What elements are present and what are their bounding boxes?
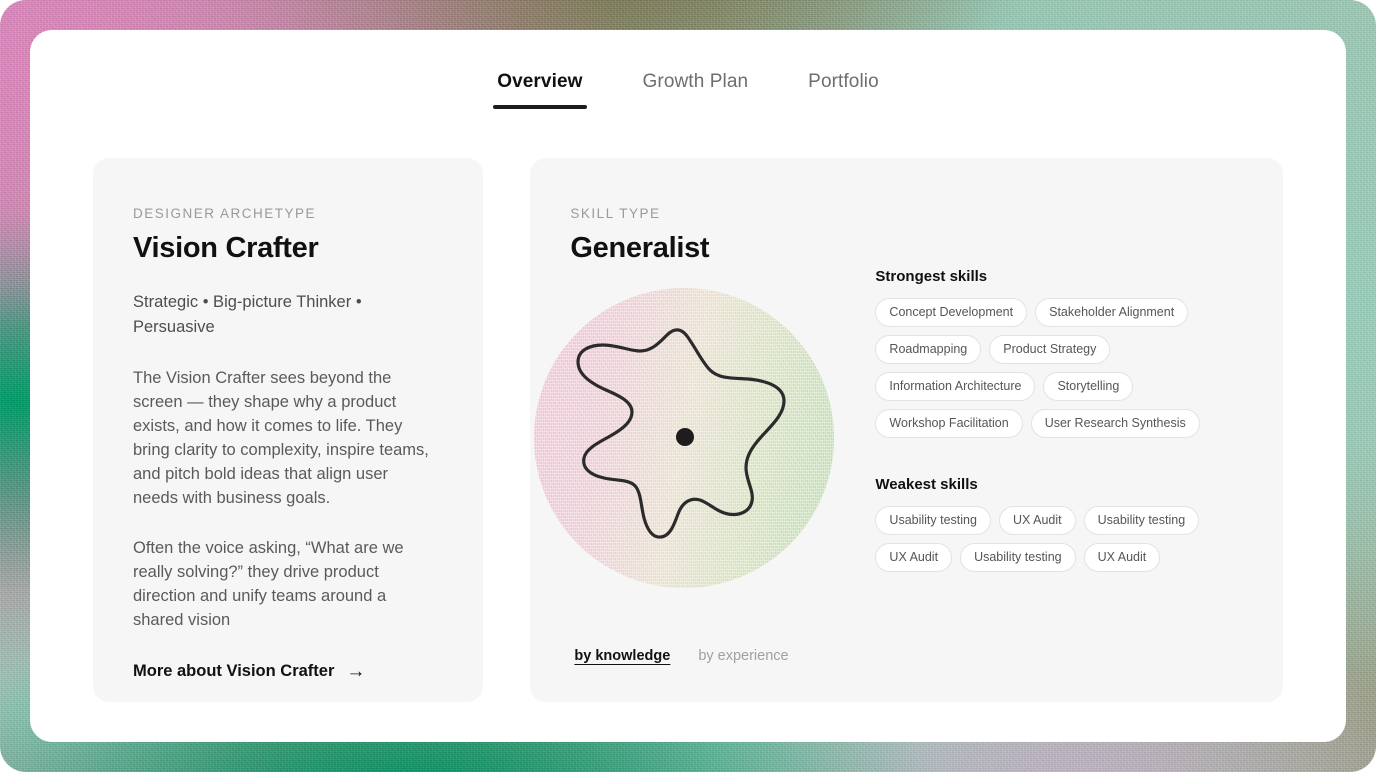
skill-pill[interactable]: Storytelling — [1043, 372, 1133, 401]
skill-pill[interactable]: Usability testing — [1084, 506, 1200, 535]
skill-pill[interactable]: Information Architecture — [875, 372, 1035, 401]
skill-blob-visual — [534, 288, 834, 588]
skill-type-eyebrow: SKILL TYPE — [570, 206, 1243, 221]
skill-pill[interactable]: UX Audit — [875, 543, 952, 572]
skill-pill[interactable]: Usability testing — [875, 506, 991, 535]
mode-by-experience[interactable]: by experience — [698, 648, 788, 664]
blob-mode-toggle: by knowledge by experience — [574, 648, 788, 664]
app-panel: Overview Growth Plan Portfolio DESIGNER … — [30, 30, 1346, 742]
skill-type-title: Generalist — [570, 232, 1243, 265]
archetype-paragraph-1: The Vision Crafter sees beyond the scree… — [133, 366, 433, 510]
gradient-backdrop: Overview Growth Plan Portfolio DESIGNER … — [0, 0, 1376, 772]
archetype-eyebrow: DESIGNER ARCHETYPE — [133, 206, 443, 221]
skill-pill[interactable]: Usability testing — [960, 543, 1076, 572]
skill-type-card: SKILL TYPE Generalist Strongest skills — [530, 158, 1283, 702]
tab-portfolio[interactable]: Portfolio — [804, 71, 883, 109]
tab-bar: Overview Growth Plan Portfolio — [30, 30, 1346, 109]
tab-growth-plan[interactable]: Growth Plan — [639, 71, 753, 109]
skill-pill[interactable]: Stakeholder Alignment — [1035, 298, 1188, 327]
archetype-traits: Strategic • Big-picture Thinker • Persua… — [133, 290, 433, 340]
archetype-paragraph-2: Often the voice asking, “What are we rea… — [133, 536, 433, 632]
more-about-archetype-link[interactable]: More about Vision Crafter → — [133, 662, 365, 681]
strongest-skills-heading: Strongest skills — [875, 268, 1205, 285]
tab-overview[interactable]: Overview — [493, 71, 586, 109]
weakest-skills-list: Usability testing UX Audit Usability tes… — [875, 506, 1205, 572]
skill-pill[interactable]: Roadmapping — [875, 335, 981, 364]
archetype-title: Vision Crafter — [133, 232, 443, 265]
skill-pill[interactable]: User Research Synthesis — [1031, 409, 1200, 438]
skill-pill[interactable]: UX Audit — [1084, 543, 1161, 572]
card-row: DESIGNER ARCHETYPE Vision Crafter Strate… — [93, 158, 1283, 702]
skill-pill[interactable]: Workshop Facilitation — [875, 409, 1022, 438]
strongest-skills-list: Concept Development Stakeholder Alignmen… — [875, 298, 1205, 438]
skills-panel: Strongest skills Concept Development Sta… — [875, 268, 1205, 572]
skill-pill[interactable]: Product Strategy — [989, 335, 1110, 364]
blob-center-dot — [676, 428, 694, 446]
arrow-right-icon: → — [346, 662, 365, 681]
skill-pill[interactable]: UX Audit — [999, 506, 1076, 535]
more-about-archetype-label: More about Vision Crafter — [133, 662, 334, 681]
blob-shape-svg — [534, 288, 834, 588]
weakest-skills-heading: Weakest skills — [875, 476, 1205, 493]
archetype-card: DESIGNER ARCHETYPE Vision Crafter Strate… — [93, 158, 483, 702]
mode-by-knowledge[interactable]: by knowledge — [574, 648, 670, 664]
skill-pill[interactable]: Concept Development — [875, 298, 1027, 327]
